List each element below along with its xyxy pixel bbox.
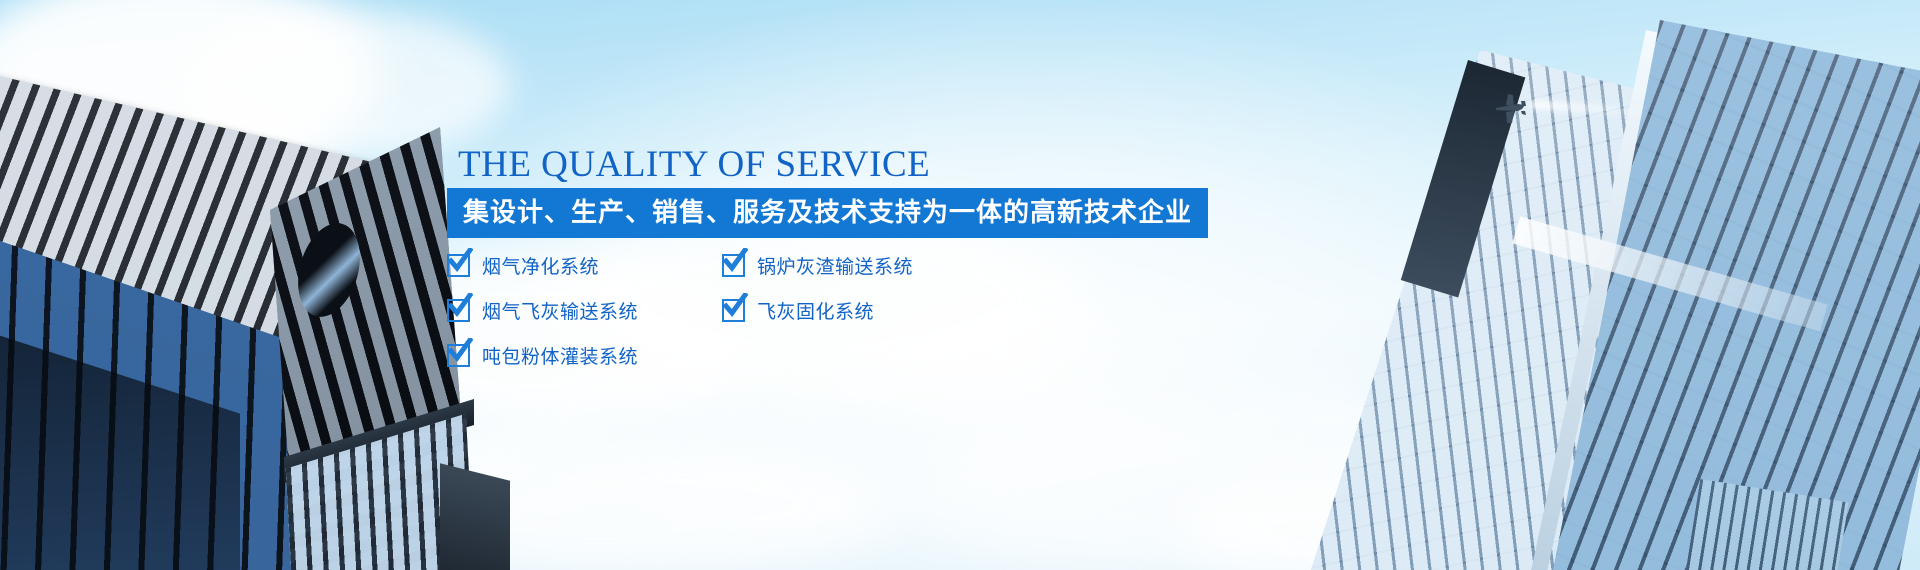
feature-label: 吨包粉体灌装系统 — [482, 342, 638, 369]
feature-row: 烟气净化系统 锅炉灰渣输送系统 — [447, 252, 1067, 297]
checkmark-icon — [447, 344, 470, 367]
feature-list: 烟气净化系统 锅炉灰渣输送系统 — [447, 252, 1067, 387]
feature-item: 烟气净化系统 — [447, 252, 599, 279]
feature-row: 烟气飞灰输送系统 飞灰固化系统 — [447, 297, 1067, 342]
checkmark-icon — [722, 254, 745, 277]
feature-item: 烟气飞灰输送系统 — [447, 297, 638, 324]
tagline-bar: 集设计、生产、销售、服务及技术支持为一体的高新技术企业 — [447, 188, 1208, 238]
feature-row: 吨包粉体灌装系统 — [447, 342, 1067, 387]
checkmark-icon — [447, 254, 470, 277]
feature-label: 烟气飞灰输送系统 — [482, 297, 638, 324]
feature-item: 锅炉灰渣输送系统 — [722, 252, 913, 279]
checkmark-icon — [447, 299, 470, 322]
checkmark-icon — [722, 299, 745, 322]
feature-label: 锅炉灰渣输送系统 — [757, 252, 913, 279]
feature-item: 吨包粉体灌装系统 — [447, 342, 638, 369]
feature-label: 飞灰固化系统 — [757, 297, 874, 324]
feature-item: 飞灰固化系统 — [722, 297, 874, 324]
hero-banner: THE QUALITY OF SERVICE 集设计、生产、销售、服务及技术支持… — [0, 0, 1920, 570]
page-title: THE QUALITY OF SERVICE — [458, 143, 930, 186]
banner-content: THE QUALITY OF SERVICE 集设计、生产、销售、服务及技术支持… — [0, 0, 1920, 570]
feature-label: 烟气净化系统 — [482, 252, 599, 279]
